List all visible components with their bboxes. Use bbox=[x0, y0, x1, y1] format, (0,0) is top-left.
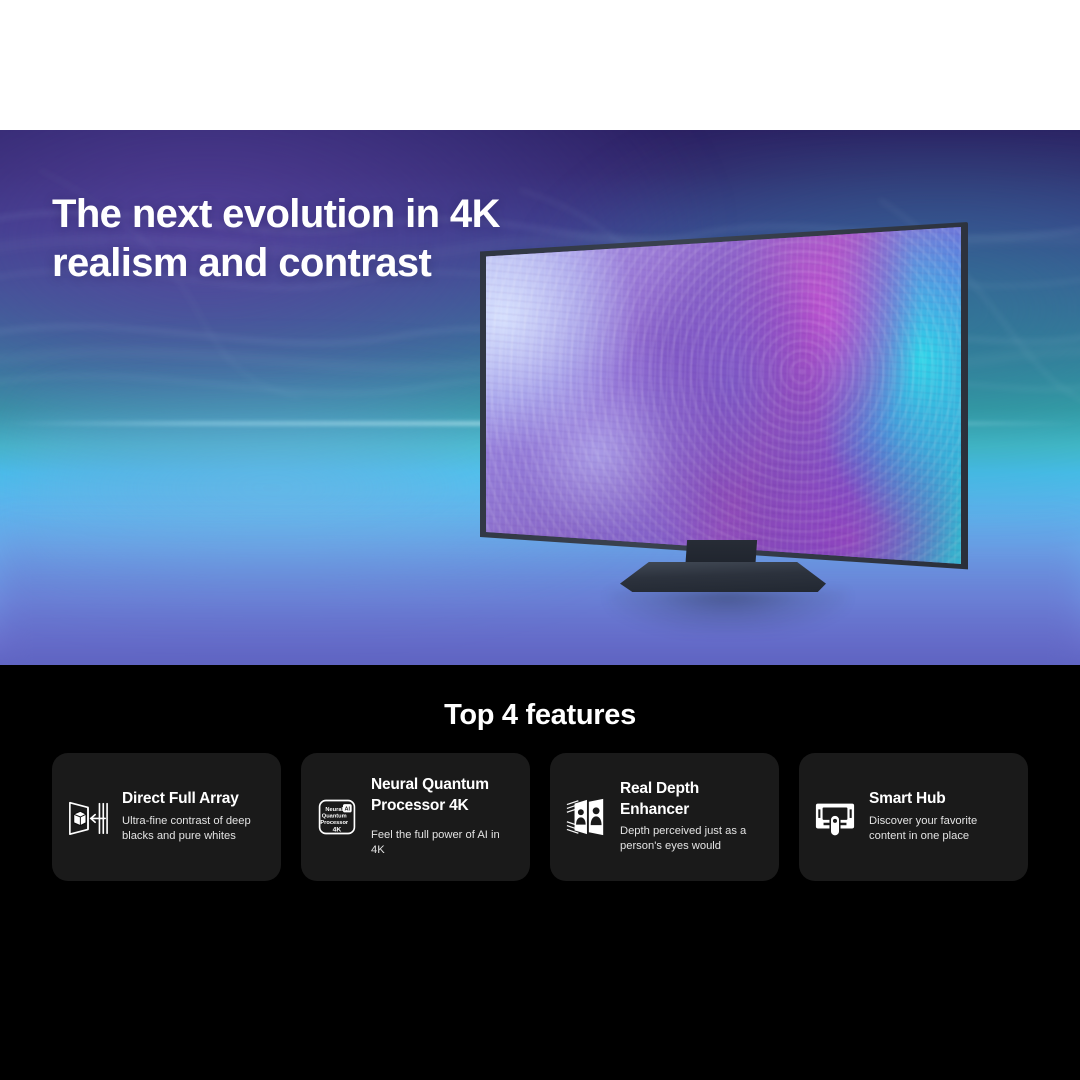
feature-card-title: Direct Full Array bbox=[122, 789, 267, 809]
tv-stand-base bbox=[620, 562, 826, 592]
direct-full-array-icon bbox=[64, 793, 112, 841]
feature-card-text: Real Depth Enhancer Depth perceived just… bbox=[620, 779, 765, 854]
feature-card-direct-full-array[interactable]: Direct Full Array Ultra-fine contrast of… bbox=[52, 753, 281, 881]
feature-card-neural-quantum-processor[interactable]: Neural Quantum Processor AI 4K Neural Qu… bbox=[301, 753, 530, 881]
promo-page: The next evolution in 4K realism and con… bbox=[0, 0, 1080, 1080]
feature-card-list: Direct Full Array Ultra-fine contrast of… bbox=[52, 753, 1028, 881]
feature-card-title: Smart Hub bbox=[869, 789, 1014, 809]
feature-card-description: Feel the full power of AI in 4K bbox=[371, 828, 516, 859]
tv-floor-reflection bbox=[608, 590, 848, 634]
svg-text:4K: 4K bbox=[333, 826, 342, 833]
feature-card-real-depth-enhancer[interactable]: Real Depth Enhancer Depth perceived just… bbox=[550, 753, 779, 881]
feature-card-description: Ultra-fine contrast of deep blacks and p… bbox=[122, 814, 267, 845]
neural-quantum-processor-chip-icon: Neural Quantum Processor AI 4K bbox=[313, 793, 361, 841]
svg-text:Neural: Neural bbox=[325, 807, 343, 813]
smart-hub-icon bbox=[811, 793, 859, 841]
feature-card-text: Direct Full Array Ultra-fine contrast of… bbox=[122, 789, 267, 844]
svg-text:AI: AI bbox=[345, 807, 351, 813]
hero-headline: The next evolution in 4K realism and con… bbox=[52, 190, 500, 288]
real-depth-enhancer-icon bbox=[562, 793, 610, 841]
features-title: Top 4 features bbox=[0, 699, 1080, 732]
feature-card-text: Smart Hub Discover your favorite content… bbox=[869, 789, 1014, 844]
svg-text:Quantum: Quantum bbox=[322, 814, 347, 820]
feature-card-text: Neural Quantum Processor 4K Feel the ful… bbox=[371, 775, 516, 858]
feature-card-description: Depth perceived just as a person's eyes … bbox=[620, 824, 765, 855]
svg-text:Processor: Processor bbox=[320, 820, 349, 826]
feature-card-title: Neural Quantum Processor 4K bbox=[371, 775, 516, 815]
feature-card-title: Real Depth Enhancer bbox=[620, 779, 765, 819]
hero-section: The next evolution in 4K realism and con… bbox=[0, 130, 1080, 665]
feature-card-description: Discover your favorite content in one pl… bbox=[869, 814, 1014, 845]
tv-screen-sheen bbox=[468, 222, 968, 582]
features-section: Top 4 features bbox=[0, 665, 1080, 1080]
tv-product-image bbox=[468, 222, 968, 582]
tv-screen bbox=[468, 222, 968, 582]
feature-card-smart-hub[interactable]: Smart Hub Discover your favorite content… bbox=[799, 753, 1028, 881]
